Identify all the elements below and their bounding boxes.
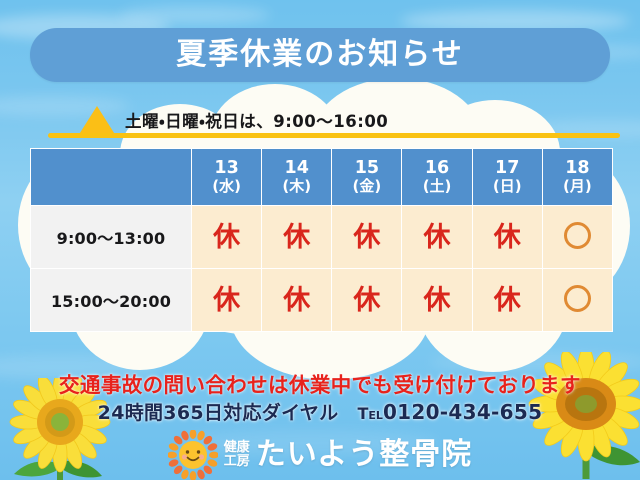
sun-face-icon (168, 430, 218, 480)
status-cell: 休 (402, 206, 471, 268)
logo-kenko-line2: 工房 (224, 455, 250, 469)
logo-kenko-line1: 健康 (224, 441, 250, 455)
status-cell: 休 (473, 206, 542, 268)
table-col-head-2: 15 (金) (332, 149, 401, 205)
rest-mark: 休 (353, 285, 380, 316)
rest-mark: 休 (424, 285, 451, 316)
table-col-head-3: 16 (土) (402, 149, 471, 205)
tel-number: 0120-434-655 (383, 400, 542, 424)
rest-mark: 休 (283, 222, 310, 253)
status-cell: 休 (402, 269, 471, 331)
day-number: 18 (543, 158, 612, 179)
table-header-row: 13 (水) 14 (木) 15 (金) 16 (土) 17 (日) (31, 149, 612, 205)
status-cell (543, 206, 612, 268)
day-weekday: (水) (192, 178, 261, 196)
status-cell: 休 (262, 206, 331, 268)
status-cell: 休 (332, 206, 401, 268)
rest-mark: 休 (494, 222, 521, 253)
rest-mark: 休 (213, 222, 240, 253)
table-col-head-5: 18 (月) (543, 149, 612, 205)
yellow-divider (48, 133, 620, 138)
day-number: 13 (192, 158, 261, 179)
status-cell: 休 (192, 269, 261, 331)
clinic-logo: 健康 工房 たいよう整骨院 (0, 430, 640, 480)
status-cell: 休 (332, 269, 401, 331)
warning-triangle-icon (78, 106, 116, 136)
schedule-table: 13 (水) 14 (木) 15 (金) 16 (土) 17 (日) (30, 148, 613, 332)
day-weekday: (木) (262, 178, 331, 196)
day-number: 15 (332, 158, 401, 179)
day-weekday: (月) (543, 178, 612, 196)
day-number: 16 (402, 158, 471, 179)
title-banner: 夏季休業のお知らせ (30, 28, 610, 82)
status-cell: 休 (473, 269, 542, 331)
day-number: 17 (473, 158, 542, 179)
poster-canvas: 夏季休業のお知らせ 土曜・日曜・祝日は、9:00〜16:00 13 (水) 14… (0, 0, 640, 480)
status-cell: 休 (192, 206, 261, 268)
rest-mark: 休 (283, 285, 310, 316)
notice-row: 土曜・日曜・祝日は、9:00〜16:00 (78, 106, 388, 134)
rest-mark: 休 (213, 285, 240, 316)
footer-dial-line: 24時間365日対応ダイヤル Tel0120-434-655 (0, 398, 640, 425)
day-weekday: (日) (473, 178, 542, 196)
day-weekday: (土) (402, 178, 471, 196)
open-circle-icon (564, 285, 591, 312)
table-corner-cell (31, 149, 191, 205)
row-time-label: 15:00〜20:00 (31, 269, 191, 331)
table-col-head-1: 14 (木) (262, 149, 331, 205)
open-circle-icon (564, 222, 591, 249)
status-cell (543, 269, 612, 331)
table-row: 9:00〜13:00 休 休 休 休 休 (31, 206, 612, 268)
row-time-label: 9:00〜13:00 (31, 206, 191, 268)
rest-mark: 休 (424, 222, 451, 253)
status-cell: 休 (262, 269, 331, 331)
sky-wisp (120, 6, 270, 24)
table-col-head-4: 17 (日) (473, 149, 542, 205)
page-title: 夏季休業のお知らせ (176, 40, 463, 70)
dial-label: 24時間365日対応ダイヤル (98, 402, 339, 424)
logo-kenko-kobo: 健康 工房 (224, 441, 250, 469)
table-row: 15:00〜20:00 休 休 休 休 休 (31, 269, 612, 331)
day-weekday: (金) (332, 178, 401, 196)
table-col-head-0: 13 (水) (192, 149, 261, 205)
rest-mark: 休 (353, 222, 380, 253)
day-number: 14 (262, 158, 331, 179)
rest-mark: 休 (494, 285, 521, 316)
tel-prefix-label: Tel (358, 404, 383, 423)
notice-text: 土曜・日曜・祝日は、9:00〜16:00 (125, 108, 388, 132)
footer-headline: 交通事故の問い合わせは休業中でも受け付けております (0, 368, 640, 398)
clinic-name: たいよう整骨院 (256, 440, 472, 470)
